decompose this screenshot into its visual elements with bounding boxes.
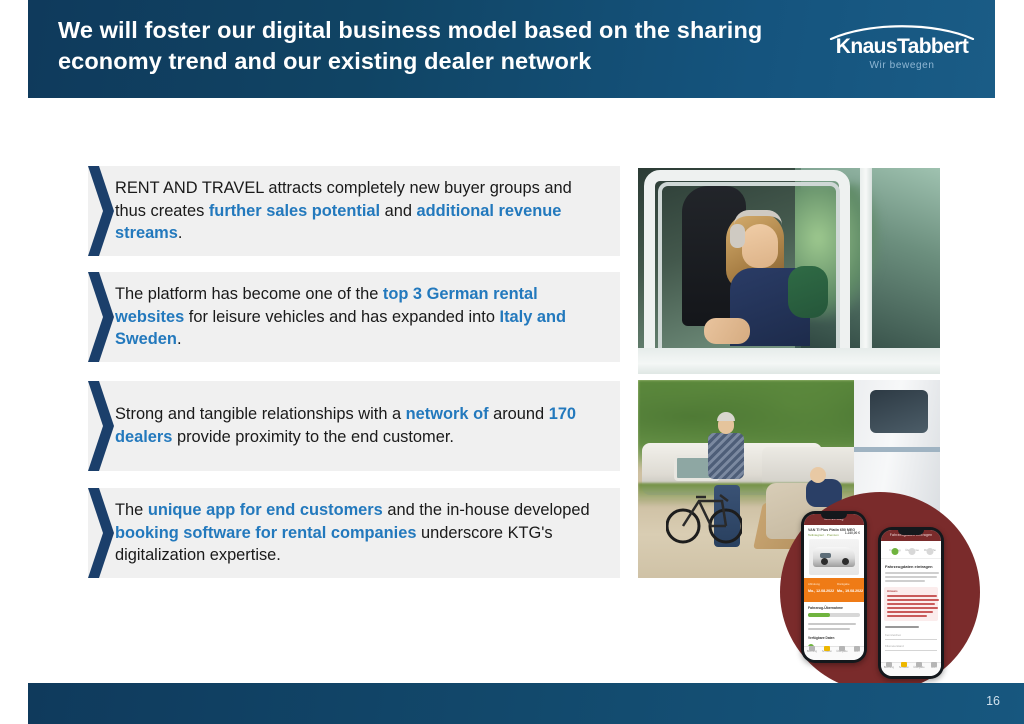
nav-item-booking[interactable]: Buchung	[883, 666, 895, 669]
phone-b-notice-line	[887, 611, 933, 613]
phone-b-heading: Fahrzeugdaten eintragen	[885, 564, 933, 569]
phone-a-price: 1.240,00 €	[845, 531, 860, 535]
phone-b-notice-line	[887, 599, 939, 601]
photo2-motorhome-window	[870, 390, 928, 434]
nav-item-more[interactable]: Mehr	[851, 650, 863, 653]
more-icon	[931, 662, 937, 667]
content-box-2-text: The platform has become one of the top 3…	[115, 283, 606, 351]
content-box-1-text: RENT AND TRAVEL attracts completely new …	[115, 177, 606, 245]
phone-b-text-line	[885, 572, 939, 574]
phone-b-tabs[interactable]: Fahrzeug Übernahme Rückgabe	[881, 541, 941, 559]
content-box-4: The unique app for end customers and the…	[88, 488, 620, 578]
content-box-1-text-wrap: RENT AND TRAVEL attracts completely new …	[115, 166, 606, 256]
tab-handover-dot	[909, 548, 916, 555]
more-icon	[854, 646, 860, 651]
handover-icon	[916, 662, 922, 667]
nav-item-handover[interactable]: Übergabe	[836, 650, 848, 653]
phone-a-date-band[interactable]: Abholung Mo., 12.08.2022 Rückgabe Mo., 1…	[804, 578, 864, 602]
phone-a-pickup-label: Abholung	[808, 582, 820, 586]
booking-icon	[809, 646, 815, 651]
warning-icon	[824, 646, 830, 651]
phone-b-field-mileage[interactable]: Kilometerstand	[885, 644, 937, 651]
content-box-4-text-wrap: The unique app for end customers and the…	[115, 488, 606, 578]
phone-b-bottom-nav[interactable]: Buchung Schäden Übergabe Mehr	[881, 662, 941, 676]
nav-item-booking[interactable]: Buchung	[806, 650, 818, 653]
bicycle-icon	[666, 471, 742, 547]
phone-a-pickup-date: Mo., 12.08.2022	[808, 589, 834, 593]
phone-b-notice-line	[887, 607, 938, 609]
chevron-right-icon	[88, 381, 114, 471]
content-box-4-text: The unique app for end customers and the…	[115, 499, 606, 567]
content-box-3-text: Strong and tangible relationships with a…	[115, 403, 606, 448]
content-box-1: RENT AND TRAVEL attracts completely new …	[88, 166, 620, 256]
slide: We will foster our digital business mode…	[0, 0, 1024, 724]
photo1-window-frame-inner	[658, 182, 840, 358]
content-box-2: The platform has become one of the top 3…	[88, 272, 620, 362]
handover-icon	[839, 646, 845, 651]
motorhome-thumbnail-icon	[813, 547, 855, 567]
phone-a-bottom-nav[interactable]: Buchung Schäden Übergabe Mehr	[804, 646, 864, 660]
phone-a-vehicle-subtitle: Teilintegriert · Premium	[808, 533, 839, 537]
phone-notch	[821, 514, 847, 519]
chevron-right-icon	[88, 488, 114, 578]
phone-a-checklist-title: Verfügbare Daten	[808, 636, 834, 640]
phone-b-field-plate[interactable]: Kennzeichen	[885, 633, 937, 640]
page-number: 16	[986, 694, 1000, 708]
nav-item-handover[interactable]: Übergabe	[913, 666, 925, 669]
chevron-right-icon	[88, 272, 114, 362]
slide-footer: 16	[28, 683, 1024, 724]
phone-mockup-booking-detail: Mietvertrag VAN TI Plus Platin 650 MEG T…	[801, 511, 867, 663]
phone-a-section-title: Fahrzeug-Übernahme	[808, 606, 843, 610]
tab-vehicle-dot	[892, 548, 899, 555]
photo1-vehicle-body	[638, 348, 940, 374]
content-box-3-text-wrap: Strong and tangible relationships with a…	[115, 381, 606, 471]
page-title: We will foster our digital business mode…	[58, 15, 858, 77]
phone-mockup-vehicle-form: Fahrzeugdaten eintragen Fahrzeug Übernah…	[878, 527, 944, 679]
phone-b-notice-box: Hinweis	[884, 587, 938, 621]
phone-b-text-line	[885, 576, 937, 578]
photo-woman-headphones-rv-window	[638, 168, 940, 374]
phone-a-progress-bar	[808, 613, 860, 617]
phone-a-screen: Mietvertrag VAN TI Plus Platin 650 MEG T…	[804, 514, 864, 660]
knaus-tabbert-logo: KnausTabbert Wir bewegen	[827, 24, 977, 72]
phone-a-progress-fill	[808, 613, 830, 617]
phone-b-field-extra[interactable]	[885, 655, 937, 662]
phone-a-text-line	[808, 628, 850, 630]
chevron-right-icon	[88, 166, 114, 256]
phone-a-return-date: Mo., 19.08.2022	[837, 589, 863, 593]
phone-b-notice-label: Hinweis	[887, 589, 898, 593]
nav-item-damages[interactable]: Schäden	[821, 650, 833, 653]
photo2-woman-head	[810, 467, 826, 483]
nav-item-more[interactable]: Mehr	[928, 666, 940, 669]
phone-b-screen: Fahrzeugdaten eintragen Fahrzeug Übernah…	[881, 530, 941, 676]
tab-return-dot	[927, 548, 934, 555]
phone-b-notice-line	[887, 595, 937, 597]
warning-icon	[901, 662, 907, 667]
phone-b-notice-line	[887, 603, 935, 605]
photo2-motorhome-stripe	[854, 447, 940, 452]
phone-a-text-line	[808, 623, 856, 625]
booking-icon	[886, 662, 892, 667]
motorhome-thumbnail-wheel	[821, 558, 828, 565]
phone-b-field-mileage-label: Kilometerstand	[885, 644, 904, 648]
phone-a-return-label: Rückgabe	[837, 582, 850, 586]
nav-item-damages[interactable]: Schäden	[898, 666, 910, 669]
photo1-body-pillar	[860, 168, 872, 374]
phone-b-notice-line	[887, 615, 927, 617]
logo-wordmark: KnausTabbert	[827, 35, 977, 59]
motorhome-thumbnail-wheel	[842, 558, 849, 565]
content-box-2-text-wrap: The platform has become one of the top 3…	[115, 272, 606, 362]
content-box-3: Strong and tangible relationships with a…	[88, 381, 620, 471]
tab-return[interactable]: Rückgabe	[920, 549, 940, 552]
phone-b-text-line	[885, 580, 925, 582]
phone-notch	[898, 530, 924, 535]
phone-b-field-plate-label: Kennzeichen	[885, 633, 901, 637]
slide-header: We will foster our digital business mode…	[28, 0, 995, 98]
tab-handover[interactable]: Übernahme	[902, 549, 922, 552]
phone-b-form-section-label	[885, 626, 919, 628]
phone-a-vehicle-image	[809, 539, 859, 575]
logo-tagline: Wir bewegen	[827, 60, 977, 71]
